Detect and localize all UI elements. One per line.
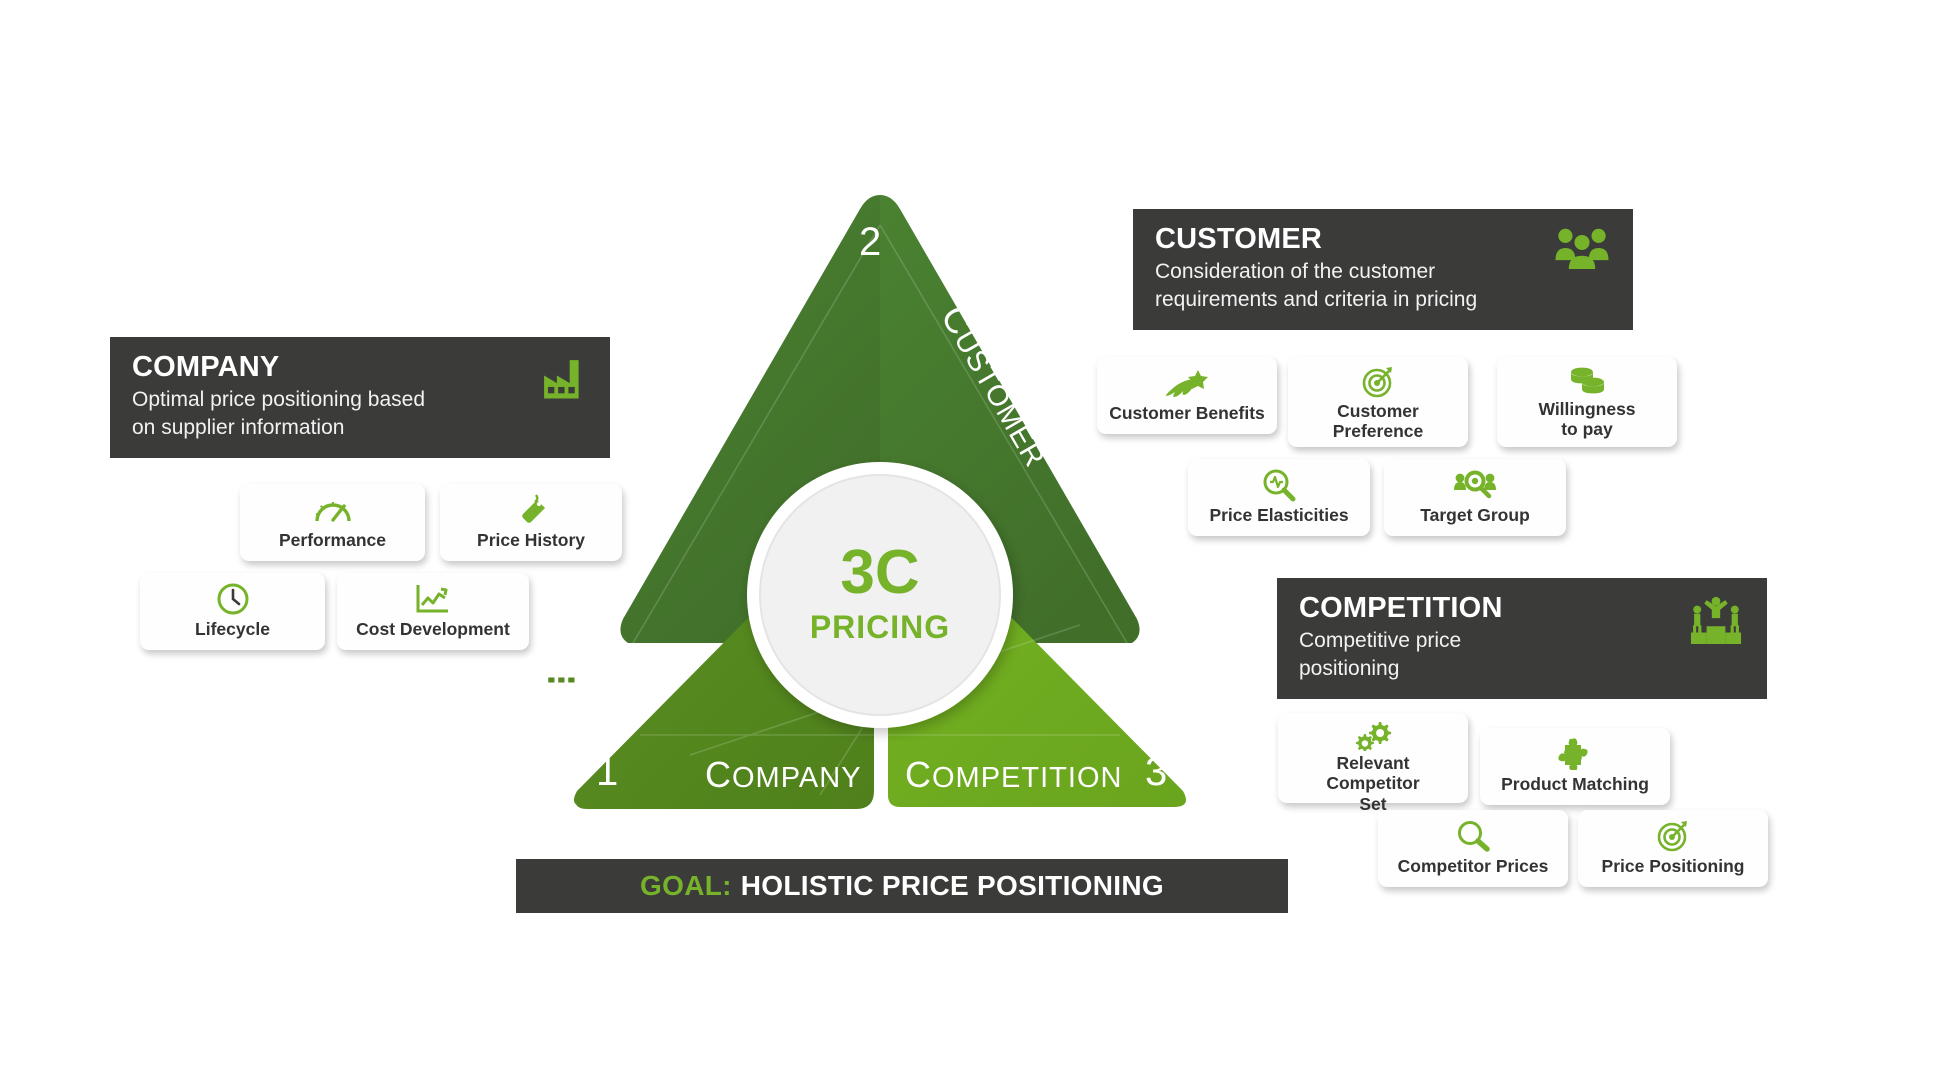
chip-price-elasticities[interactable]: Price Elasticities — [1188, 459, 1370, 536]
coins-icon — [1567, 365, 1607, 397]
chip-lifecycle-label: Lifecycle — [195, 619, 270, 639]
goal-label: GOAL: — [640, 870, 732, 902]
chip-target-group-label: Target Group — [1420, 505, 1530, 525]
diagram-canvas: 2 1 3 CUSTOMER COMPANY COMPETITION — [0, 0, 1960, 1088]
segment-label-company-cap: C — [705, 754, 732, 795]
target-arrow-icon — [1656, 818, 1690, 854]
chip-lifecycle[interactable]: Lifecycle — [140, 573, 325, 650]
segment-number-1: 1 — [596, 750, 618, 794]
panel-customer[interactable]: CUSTOMER Consideration of the customer r… — [1133, 209, 1633, 330]
chip-cost-development-label: Cost Development — [356, 619, 510, 639]
podium-winner-icon — [1120, 644, 1173, 695]
chip-cost-development[interactable]: Cost Development — [337, 573, 529, 650]
panel-company-subtitle: Optimal price positioning based on suppl… — [132, 386, 425, 441]
speedometer-icon — [313, 492, 353, 528]
factory-icon — [536, 355, 588, 406]
panel-competition-subtitle: Competitive price positioning — [1299, 627, 1503, 682]
three-c-triangle: 2 1 3 CUSTOMER COMPANY COMPETITION — [520, 195, 1240, 835]
chip-relevant-competitor-set-label: Relevant Competitor Set — [1290, 753, 1456, 814]
chip-product-matching-label: Product Matching — [1501, 774, 1649, 794]
chip-performance[interactable]: Performance — [240, 484, 425, 561]
shooting-star-icon — [1164, 365, 1210, 401]
chip-price-history[interactable]: Price History — [440, 484, 622, 561]
panel-company-text: COMPANY Optimal price positioning based … — [132, 351, 425, 442]
chip-competitor-prices[interactable]: Competitor Prices — [1378, 810, 1568, 887]
chip-customer-benefits[interactable]: Customer Benefits — [1097, 357, 1277, 434]
goal-bar: GOAL: HOLISTIC PRICE POSITIONING — [516, 859, 1288, 913]
chip-product-matching[interactable]: Product Matching — [1480, 728, 1670, 805]
goal-text: HOLISTIC PRICE POSITIONING — [741, 870, 1164, 902]
factory-icon — [545, 653, 579, 688]
segment-number-2: 2 — [859, 220, 881, 264]
magnifier-icon — [1456, 818, 1490, 854]
panel-customer-subtitle: Consideration of the customer requiremen… — [1155, 258, 1477, 313]
panel-customer-text: CUSTOMER Consideration of the customer r… — [1155, 223, 1477, 314]
panel-competition-title: COMPETITION — [1299, 592, 1503, 624]
chip-customer-benefits-label: Customer Benefits — [1109, 403, 1265, 423]
trend-chart-icon — [414, 581, 452, 617]
price-tag-icon — [513, 492, 549, 528]
center-title: 3C — [840, 538, 919, 607]
chip-customer-preference[interactable]: Customer Preference — [1288, 357, 1468, 447]
segment-label-competition-cap: C — [905, 754, 932, 795]
chip-price-positioning-label: Price Positioning — [1602, 856, 1745, 876]
chip-customer-preference-label: Customer Preference — [1333, 401, 1423, 442]
gears-icon — [1353, 721, 1393, 751]
panel-competition-text: COMPETITION Competitive price positionin… — [1299, 592, 1503, 683]
chip-competitor-prices-label: Competitor Prices — [1398, 856, 1549, 876]
target-arrow-icon — [1361, 365, 1395, 399]
clock-icon — [216, 581, 250, 617]
center-subtitle: PRICING — [810, 609, 950, 645]
segment-label-competition-rest: OMPETITION — [932, 762, 1122, 794]
chip-price-history-label: Price History — [477, 530, 585, 550]
panel-company-title: COMPANY — [132, 351, 425, 383]
chip-target-group[interactable]: Target Group — [1384, 459, 1566, 536]
target-group-icon — [1454, 467, 1496, 503]
panel-competition[interactable]: COMPETITION Competitive price positionin… — [1277, 578, 1767, 699]
panel-company[interactable]: COMPANY Optimal price positioning based … — [110, 337, 610, 458]
segment-number-3: 3 — [1145, 750, 1167, 794]
chip-relevant-competitor-set[interactable]: Relevant Competitor Set — [1278, 713, 1468, 803]
chip-willingness-to-pay-label: Willingness to pay — [1538, 399, 1635, 440]
chip-performance-label: Performance — [279, 530, 386, 550]
chip-price-elasticities-label: Price Elasticities — [1209, 505, 1348, 525]
people-group-icon — [1553, 227, 1611, 274]
panel-customer-title: CUSTOMER — [1155, 223, 1477, 255]
segment-label-company-rest: OMPANY — [732, 762, 862, 794]
chip-price-positioning[interactable]: Price Positioning — [1578, 810, 1768, 887]
magnifier-pulse-icon — [1261, 467, 1297, 503]
puzzle-piece-icon — [1558, 736, 1592, 772]
podium-winner-icon — [1687, 596, 1745, 649]
chip-willingness-to-pay[interactable]: Willingness to pay — [1497, 357, 1677, 447]
